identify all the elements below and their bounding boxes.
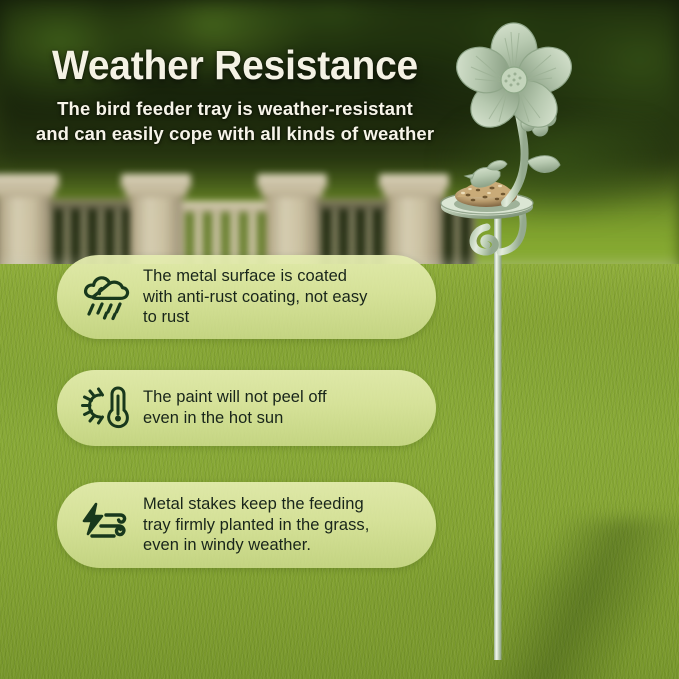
feature-text-rust-resistance: The metal surface is coated with anti-ru… [139,266,367,328]
product-marketing-image: Weather Resistance The bird feeder tray … [0,0,679,679]
feature-line: Metal stakes keep the feeding [143,494,369,515]
feature-line: The metal surface is coated [143,266,367,287]
feature-line: tray firmly planted in the grass, [143,515,369,536]
sun-thermometer-icon [73,379,139,437]
feature-line: with anti-rust coating, not easy [143,287,367,308]
page-subtitle: The bird feeder tray is weather-resistan… [0,97,470,147]
page-title: Weather Resistance [12,44,459,87]
feature-line: even in the hot sun [143,408,327,429]
feature-pill-wind-resistance: Metal stakes keep the feeding tray firml… [57,482,436,568]
headline-block: Weather Resistance The bird feeder tray … [0,44,470,147]
feature-pill-heat-resistance: The paint will not peel off even in the … [57,370,436,446]
feature-text-wind-resistance: Metal stakes keep the feeding tray firml… [139,494,369,556]
wind-lightning-icon [73,496,139,554]
rain-cloud-icon [73,268,139,326]
feature-line: even in windy weather. [143,535,369,556]
feature-line: to rust [143,307,367,328]
subtitle-line-2: and can easily cope with all kinds of we… [0,122,470,147]
feature-pill-rust-resistance: The metal surface is coated with anti-ru… [57,255,436,339]
feature-text-heat-resistance: The paint will not peel off even in the … [139,387,327,429]
grass-shadow-streak [419,519,679,679]
feature-line: The paint will not peel off [143,387,327,408]
subtitle-line-1: The bird feeder tray is weather-resistan… [0,97,470,122]
